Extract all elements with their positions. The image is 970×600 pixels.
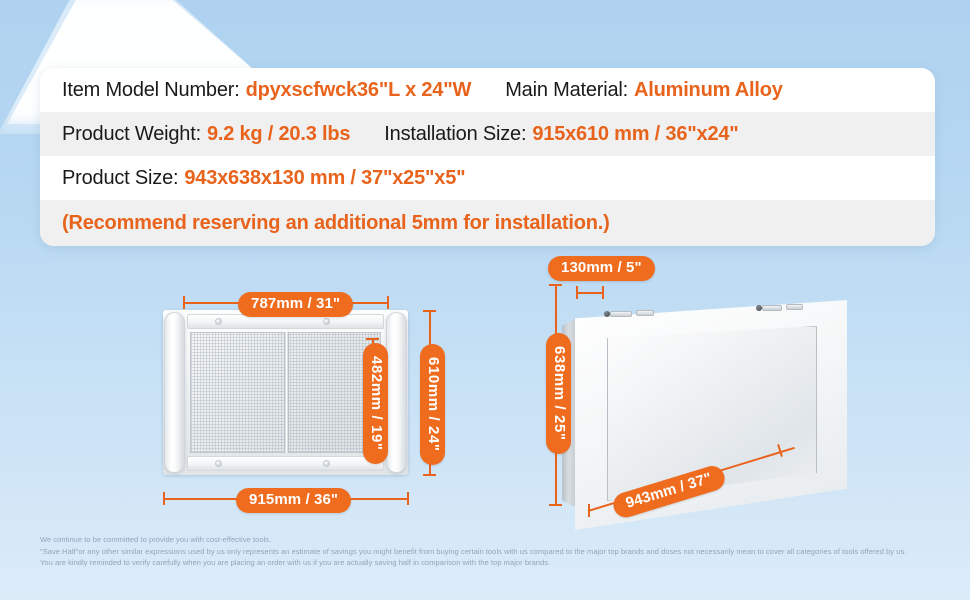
dimension-label-mesh-height: 482mm / 19" xyxy=(363,343,388,464)
spec-value-installation-size: 915x610 mm / 36"x24" xyxy=(532,123,738,146)
dimension-tick xyxy=(183,296,185,309)
disclaimer-line-2: "Save Half"or any other similar expressi… xyxy=(40,546,940,558)
hinge-icon xyxy=(610,311,632,317)
spec-value-weight: 9.2 kg / 20.3 lbs xyxy=(207,123,350,146)
dimension-tick xyxy=(602,286,604,299)
spec-label-material: Main Material: xyxy=(505,79,628,102)
dimension-label-mesh-width: 787mm / 31" xyxy=(238,292,353,317)
spec-row-model: Item Model Number: dpyxscfwck36"L x 24"W… xyxy=(40,68,935,112)
screen-cassette-right xyxy=(386,312,407,473)
screen-center-bar xyxy=(284,332,289,453)
spec-row-note: (Recommend reserving an additional 5mm f… xyxy=(40,200,935,246)
spec-label-weight: Product Weight: xyxy=(62,123,201,146)
spec-value-product-size: 943x638x130 mm / 37"x25"x5" xyxy=(184,167,465,190)
installation-note: (Recommend reserving an additional 5mm f… xyxy=(62,212,610,235)
hinge-icon xyxy=(786,304,803,310)
footer-disclaimer: We continue to be committed to provide y… xyxy=(40,534,940,569)
disclaimer-line-1: We continue to be committed to provide y… xyxy=(40,534,940,546)
dimension-tick xyxy=(576,286,578,299)
hinge-icon xyxy=(762,305,782,311)
dimension-line-depth xyxy=(576,292,604,294)
spec-row-product-size: Product Size: 943x638x130 mm / 37"x25"x5… xyxy=(40,156,935,200)
dimension-tick xyxy=(366,338,379,340)
dimension-label-overall-width: 915mm / 36" xyxy=(236,488,351,513)
spec-row-weight: Product Weight: 9.2 kg / 20.3 lbs Instal… xyxy=(40,112,935,156)
dimension-label-overall-height: 610mm / 24" xyxy=(420,344,445,465)
screw-icon xyxy=(215,318,222,325)
dimension-tick xyxy=(407,492,409,505)
spec-value-material: Aluminum Alloy xyxy=(634,79,783,102)
dimension-tick xyxy=(387,296,389,309)
spec-label-model: Item Model Number: xyxy=(62,79,240,102)
dimension-label-height: 638mm / 25" xyxy=(546,333,571,454)
product-spec-infographic: Item Model Number: dpyxscfwck36"L x 24"W… xyxy=(0,0,970,600)
dimension-label-depth: 130mm / 5" xyxy=(548,256,655,281)
hinge-icon xyxy=(636,310,654,316)
dimension-tick xyxy=(423,474,436,476)
diagrams-area: 787mm / 31" 482mm / 19" 610mm / 24" 915m… xyxy=(0,248,970,533)
hinge-bolt-icon xyxy=(756,305,762,311)
dimension-tick xyxy=(549,284,562,286)
dimension-tick xyxy=(549,504,562,506)
spec-label-installation-size: Installation Size: xyxy=(384,123,526,146)
spec-label-product-size: Product Size: xyxy=(62,167,178,190)
specification-card: Item Model Number: dpyxscfwck36"L x 24"W… xyxy=(40,68,935,246)
screw-icon xyxy=(323,318,330,325)
hinge-bolt-icon xyxy=(604,311,610,317)
dimension-tick xyxy=(163,492,165,505)
screen-cassette-left xyxy=(164,312,185,473)
screw-icon xyxy=(323,460,330,467)
disclaimer-line-3: You are kindly reminded to verify carefu… xyxy=(40,557,940,569)
dimension-tick xyxy=(588,504,590,517)
dimension-tick xyxy=(423,310,436,312)
spec-value-model: dpyxscfwck36"L x 24"W xyxy=(246,79,472,102)
screw-icon xyxy=(215,460,222,467)
window-perspective-view xyxy=(562,300,852,530)
